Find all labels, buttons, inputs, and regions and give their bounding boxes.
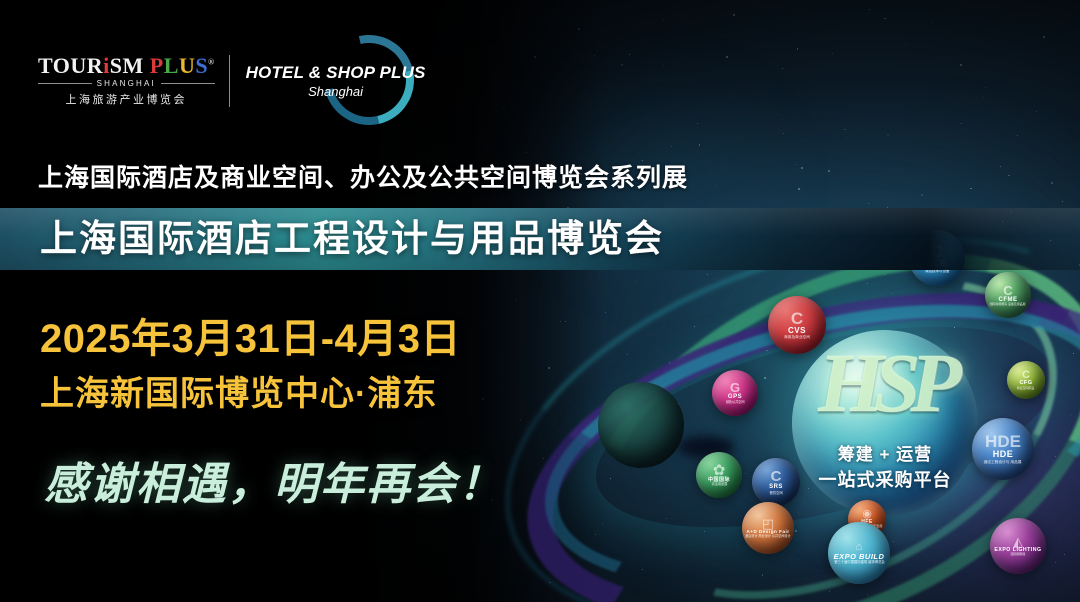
rule-left xyxy=(38,83,92,84)
badge-cvs-sub: 商用及商业空间 xyxy=(784,336,810,340)
badge-expo-lighting-sub: 国际照明展 xyxy=(1011,554,1026,557)
logo-divider xyxy=(229,55,230,107)
badge-hde[interactable]: HDE HDE 酒店工程设计与 用品展 xyxy=(972,418,1034,480)
badge-ad-design-fair[interactable]: ◰ A+D Design Fair 酒店设计·商业设计 公共空间设计 xyxy=(742,502,794,554)
series-subtitle: 上海国际酒店及商业空间、办公及公共空间博览会系列展 xyxy=(38,158,688,194)
tourism-plus-shanghai-row: SHANGHAI xyxy=(38,79,215,88)
badge-gps-sub: 绿色公共空间 xyxy=(726,401,745,405)
badge-srs-sub: 餐饮空间 xyxy=(769,491,782,495)
hotel-shop-plus-sub: Shanghai xyxy=(246,84,426,99)
exhibition-banner: HSP 筹建 + 运营 一站式采购平台 C CVS 商用及商业空间 G GPS … xyxy=(0,0,1080,602)
logo-lockup: TOURiSM PLUS® SHANGHAI 上海旅游产业博览会 HOTEL &… xyxy=(38,55,426,107)
registered-mark: ® xyxy=(208,58,214,67)
tourism-plus-chinese: 上海旅游产业博览会 xyxy=(66,91,188,107)
badge-cleaning-mark: ✿ xyxy=(713,463,726,478)
rule-right xyxy=(161,83,215,84)
hotel-shop-plus-text: HOTEL & SHOP PLUS Shanghai xyxy=(246,63,426,99)
badge-cleaning[interactable]: ✿ 中国国际 清洁用品展 xyxy=(696,452,742,498)
badge-srs[interactable]: C SRS 餐饮空间 xyxy=(752,458,800,506)
tourism-plus-wordmark: TOURiSM PLUS® xyxy=(38,55,215,77)
badge-expo-build-mark: ⌂ xyxy=(856,542,863,553)
page-title: 上海国际酒店工程设计与用品博览会 xyxy=(40,212,664,266)
badge-hde-mark: HDE xyxy=(985,433,1021,450)
badge-hfe-mark: ◉ xyxy=(862,509,872,520)
badge-cvs[interactable]: C CVS 商用及商业空间 xyxy=(768,296,826,354)
badge-cfg[interactable]: C CFG 商业空间陈设 xyxy=(1007,361,1045,399)
hotel-shop-plus-main: HOTEL & SHOP PLUS xyxy=(246,63,426,83)
badge-cfme-sub: 国际商用厨房 设备及用品展 xyxy=(990,303,1026,306)
badge-cfme-mark: C xyxy=(1003,284,1012,297)
hotel-shop-plus-logo[interactable]: HOTEL & SHOP PLUS Shanghai xyxy=(246,63,426,99)
badge-cfg-sub: 商业空间陈设 xyxy=(1017,387,1035,390)
badge-srs-mark: C xyxy=(771,469,782,484)
event-venue: 上海新国际博览中心·浦东 xyxy=(40,366,437,415)
tp-i: i xyxy=(103,53,110,78)
tourism-plus-logo[interactable]: TOURiSM PLUS® SHANGHAI 上海旅游产业博览会 xyxy=(38,55,215,107)
tp-u: U xyxy=(179,53,195,78)
badge-cfg-mark: C xyxy=(1022,370,1030,381)
event-date: 2025年3月31日-4月3日 xyxy=(40,306,461,364)
tp-sm: SM xyxy=(110,53,144,78)
badge-ad-design-fair-mark: ◰ xyxy=(762,517,774,530)
tp-l: L xyxy=(164,53,179,78)
tp-tour: TOUR xyxy=(38,53,103,78)
badge-expo-build-sub: 第三十届中国国际建筑 装饰博览会 xyxy=(834,561,885,565)
central-sphere: HSP 筹建 + 运营 一站式采购平台 xyxy=(792,330,978,516)
badge-gps-mark: G xyxy=(730,381,740,394)
closing-slogan: 感谢相遇，明年再会！ xyxy=(44,448,504,512)
badge-expo-lighting[interactable]: ◭ EXPO LIGHTING 国际照明展 xyxy=(990,518,1046,574)
badge-cvs-mark: C xyxy=(791,310,803,327)
badge-cleaning-sub: 清洁用品展 xyxy=(711,483,727,487)
badge-ad-design-fair-sub: 酒店设计·商业设计 公共空间设计 xyxy=(745,535,791,539)
sphere-tagline-1: 筹建 + 运营 xyxy=(792,440,978,465)
tourism-plus-shanghai: SHANGHAI xyxy=(92,79,161,88)
background-planet xyxy=(598,382,684,468)
badge-cfme[interactable]: C CFME 国际商用厨房 设备及用品展 xyxy=(985,272,1031,318)
badge-srs-code: SRS xyxy=(769,484,783,490)
badge-hde-sub: 酒店工程设计与 用品展 xyxy=(984,460,1022,464)
tp-s: S xyxy=(195,53,208,78)
sphere-tagline-2: 一站式采购平台 xyxy=(792,466,978,492)
tp-p: P xyxy=(150,53,164,78)
badge-expo-build[interactable]: ⌂ EXPO BUILD 第三十届中国国际建筑 装饰博览会 xyxy=(828,522,890,584)
badge-gps[interactable]: G GPS 绿色公共空间 xyxy=(712,370,758,416)
badge-expo-lighting-mark: ◭ xyxy=(1013,535,1023,548)
